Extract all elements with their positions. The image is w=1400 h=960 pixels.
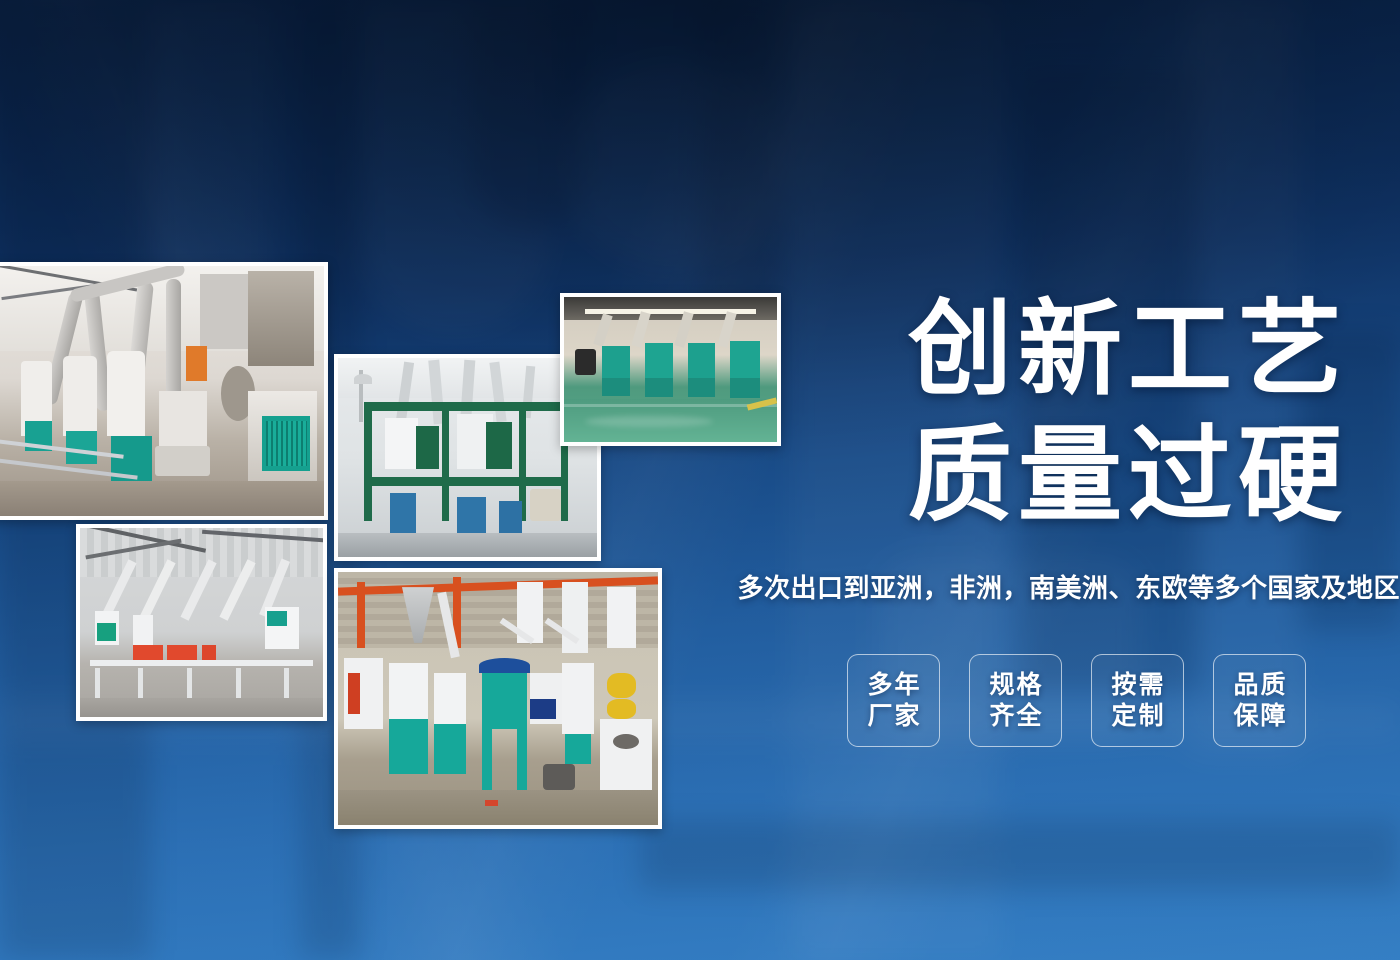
- badge-line-2: 定制: [1109, 701, 1165, 732]
- photo-teal-mills-workshop: [560, 293, 781, 446]
- promo-banner: 创新工艺 质量过硬 多次出口到亚洲，非洲，南美洲、东欧等多个国家及地区 多年 厂…: [0, 0, 1400, 960]
- badge-line-1: 规格: [987, 670, 1043, 701]
- badge-line-1: 按需: [1109, 670, 1165, 701]
- photo-plant-with-red-hoppers: [76, 524, 327, 721]
- badge-line-1: 多年: [865, 670, 921, 701]
- feature-badge-list: 多年 厂家 规格 齐全 按需 定制 品质 保障: [847, 654, 1306, 747]
- badge-line-2: 厂家: [865, 701, 921, 732]
- badge-line-2: 保障: [1231, 701, 1287, 732]
- headline-line-2: 质量过硬: [908, 424, 1348, 528]
- feature-badge-custom[interactable]: 按需 定制: [1091, 654, 1184, 747]
- photo-large-teal-mill-line: [334, 568, 662, 829]
- feature-badge-years[interactable]: 多年 厂家: [847, 654, 940, 747]
- feature-badge-specs[interactable]: 规格 齐全: [969, 654, 1062, 747]
- feature-badge-quality[interactable]: 品质 保障: [1213, 654, 1306, 747]
- badge-line-2: 齐全: [987, 701, 1043, 732]
- photo-rice-mill-line: [0, 262, 328, 520]
- subtitle: 多次出口到亚洲，非洲，南美洲、东欧等多个国家及地区: [737, 568, 1400, 605]
- headline-line-1: 创新工艺: [908, 298, 1348, 402]
- badge-line-1: 品质: [1231, 670, 1287, 701]
